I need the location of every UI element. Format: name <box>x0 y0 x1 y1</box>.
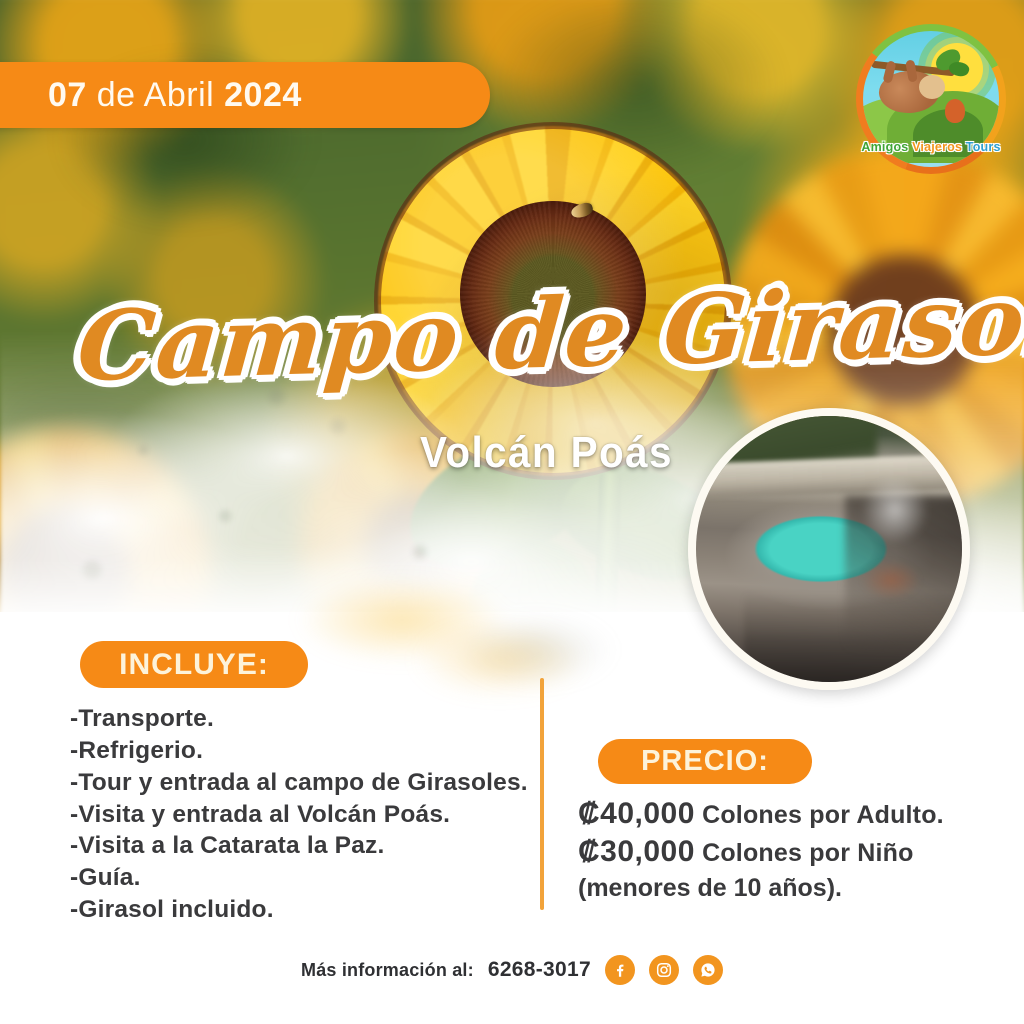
logo-word-tours: Tours <box>966 140 1001 154</box>
precio-block: ₡40,000 Colones por Adulto. ₡30,000 Colo… <box>578 795 1008 904</box>
date-text: 07 de Abril 2024 <box>48 76 302 115</box>
footer-contact: Más información al: 6268-3017 <box>0 955 1024 985</box>
footer-label: Más información al: <box>301 960 474 981</box>
price-adult-amount: 40,000 <box>600 797 695 830</box>
currency-symbol: ₡ <box>578 797 600 830</box>
background-smudge-right <box>370 600 630 720</box>
whatsapp-icon[interactable] <box>693 955 723 985</box>
date-connector: de Abril <box>87 76 224 114</box>
incluye-list: -Transporte. -Refrigerio. -Tour y entrad… <box>70 703 540 926</box>
list-item: -Guía. <box>70 862 540 894</box>
toucan-icon <box>945 99 965 123</box>
list-item: -Transporte. <box>70 703 540 735</box>
crater-shadow-bottom <box>744 592 970 690</box>
crater-steam <box>860 475 930 545</box>
logo-word-viajeros: Viajeros <box>912 140 966 154</box>
price-child-label: Colones por Niño <box>695 839 914 867</box>
hero-title-wrap: Campo de Girasoles <box>78 296 838 398</box>
precio-heading: PRECIO: <box>598 739 812 784</box>
date-banner: 07 de Abril 2024 <box>0 62 490 128</box>
price-child-row: ₡30,000 Colones por Niño <box>578 833 1008 871</box>
price-adult-row: ₡40,000 Colones por Adulto. <box>578 795 1008 833</box>
currency-symbol: ₡ <box>578 835 600 868</box>
flyer-canvas: 07 de Abril 2024 Amigos Viajeros Tours <box>0 0 1024 1024</box>
instagram-icon[interactable] <box>649 955 679 985</box>
footer-phone[interactable]: 6268-3017 <box>488 958 591 982</box>
page-title: Campo de Girasoles <box>74 275 844 398</box>
date-year: 2024 <box>224 76 302 114</box>
list-item: -Girasol incluido. <box>70 894 540 926</box>
list-item: -Tour y entrada al campo de Girasoles. <box>70 767 540 799</box>
poas-volcano-photo <box>688 408 970 690</box>
list-item: -Visita y entrada al Volcán Poás. <box>70 799 540 831</box>
vertical-divider <box>540 678 544 910</box>
facebook-icon[interactable] <box>605 955 635 985</box>
list-item: -Refrigerio. <box>70 735 540 767</box>
page-subtitle: Volcán Poás <box>420 428 673 478</box>
sloth-head <box>919 75 945 99</box>
date-day: 07 <box>48 76 87 114</box>
price-adult-label: Colones por Adulto. <box>695 801 944 829</box>
company-logo[interactable]: Amigos Viajeros Tours <box>856 24 1006 174</box>
incluye-heading: INCLUYE: <box>80 641 308 688</box>
crater-mineral-stain <box>861 560 921 600</box>
logo-text: Amigos Viajeros Tours <box>856 140 1006 154</box>
price-child-note: (menores de 10 años). <box>578 872 1008 904</box>
price-child-amount: 30,000 <box>600 835 695 868</box>
logo-word-amigos: Amigos <box>861 140 912 154</box>
list-item: -Visita a la Catarata la Paz. <box>70 830 540 862</box>
